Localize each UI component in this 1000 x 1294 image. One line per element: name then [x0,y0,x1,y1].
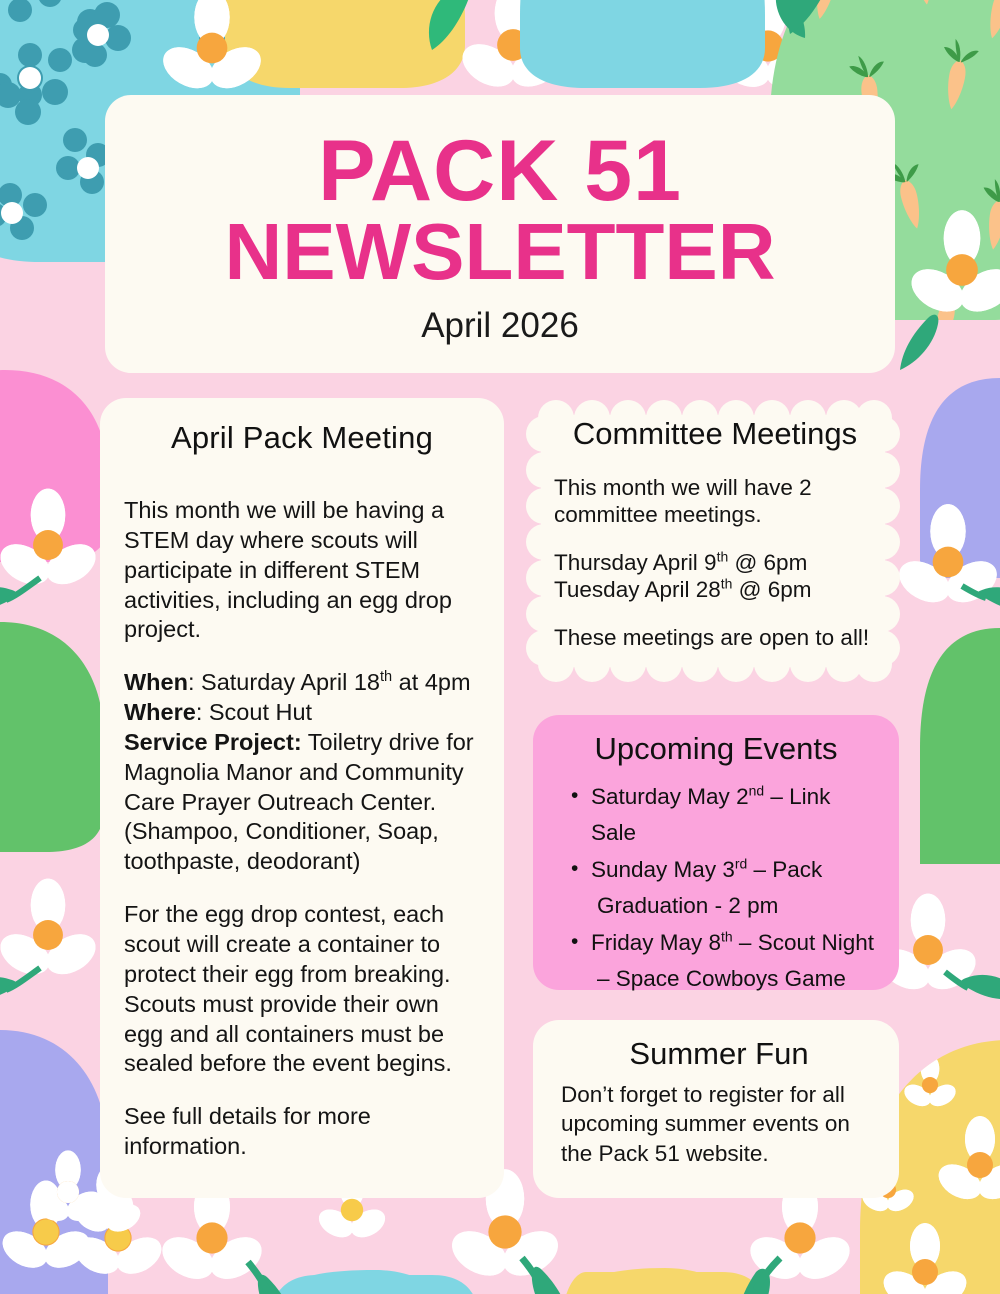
summer-fun-title: Summer Fun [561,1036,877,1072]
meeting-2-pre: Tuesday April 28 [554,577,721,602]
pack-meeting-body: This month we will be having a STEM day … [124,496,480,1162]
event-3-post: – Scout Night [733,930,874,955]
event-3-continuation: – Space Cowboys Game [591,961,879,997]
where-label: Where [124,699,196,725]
committee-note: These meetings are open to all! [554,624,876,651]
event-3-ordinal: th [721,928,733,944]
newsletter-header-card: PACK 51 NEWSLETTER April 2026 [105,95,895,373]
list-item: Saturday May 2nd – Link Sale [591,779,879,852]
egg-drop-paragraph: For the egg drop contest, each scout wil… [124,900,480,1079]
meeting-1-ordinal: th [717,548,729,564]
pack-meeting-footer: See full details for more information. [124,1102,480,1162]
list-item: Sunday May 3rd – Pack Graduation - 2 pm [591,852,879,925]
summer-fun-body: Don’t forget to register for all upcomin… [561,1080,877,1168]
title-line-1: PACK 51 [318,123,682,219]
meeting-2-ordinal: th [721,576,733,592]
when-ordinal: th [380,669,392,685]
event-2-ordinal: rd [735,855,747,871]
service-project-label: Service Project: [124,729,302,755]
where-value: : Scout Hut [196,699,312,725]
meeting-1-post: @ 6pm [728,550,807,575]
title-line-2: NEWSLETTER [105,213,895,291]
april-pack-meeting-card: April Pack Meeting This month we will be… [100,398,504,1198]
when-label: When [124,669,188,695]
pack-meeting-title: April Pack Meeting [124,420,480,456]
when-value: : Saturday April 18 [188,669,380,695]
upcoming-events-card: Upcoming Events Saturday May 2nd – Link … [533,715,899,990]
upcoming-events-title: Upcoming Events [553,731,879,767]
issue-date: April 2026 [105,306,895,346]
list-item: Friday May 8th – Scout Night – Space Cow… [591,925,879,998]
committee-meetings-card: Committee Meetings This month we will ha… [524,398,902,684]
meeting-1-pre: Thursday April 9 [554,550,717,575]
committee-intro: This month we will have 2 committee meet… [554,474,876,529]
when-tail: at 4pm [392,669,470,695]
event-1-pre: Saturday May 2 [591,784,749,809]
meeting-2-post: @ 6pm [732,577,811,602]
upcoming-events-list: Saturday May 2nd – Link Sale Sunday May … [553,779,879,998]
summer-fun-text: Don’t forget to register for all upcomin… [561,1080,877,1168]
page-title: PACK 51 NEWSLETTER [105,129,895,292]
pack-meeting-details: When: Saturday April 18th at 4pm Where: … [124,668,480,877]
summer-fun-card: Summer Fun Don’t forget to register for … [533,1020,899,1198]
pack-meeting-intro: This month we will be having a STEM day … [124,496,480,645]
event-3-pre: Friday May 8 [591,930,721,955]
event-2-continuation: Graduation - 2 pm [591,888,879,924]
committee-meeting-dates: Thursday April 9th @ 6pm Tuesday April 2… [554,549,876,604]
newsletter-page: PACK 51 NEWSLETTER April 2026 April Pack… [0,0,1000,1294]
event-2-pre: Sunday May 3 [591,857,735,882]
committee-meetings-title: Committee Meetings [554,416,876,452]
committee-body: This month we will have 2 committee meet… [554,474,876,651]
event-2-post: – Pack [747,857,822,882]
event-1-ordinal: nd [749,783,765,799]
